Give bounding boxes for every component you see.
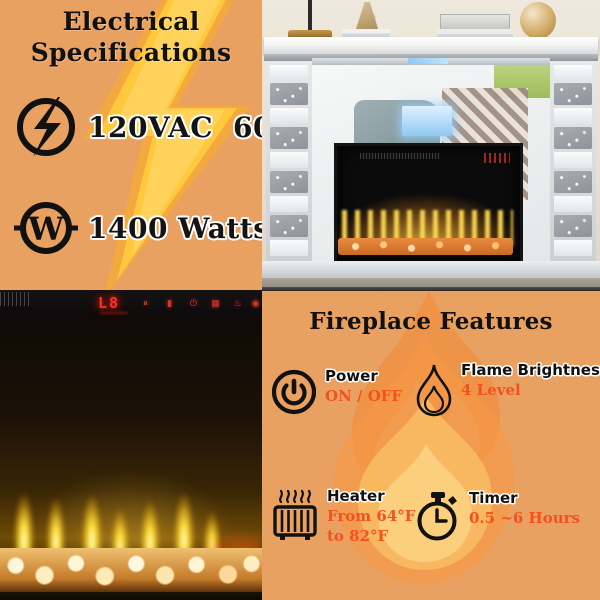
feature-power-label: Power [325,368,402,385]
watt-symbol-icon: W [14,196,78,260]
features-heading: Fireplace Features [262,308,600,335]
crystal-ember-bed [0,548,262,592]
voltage-value: 120VAC [88,111,213,144]
gold-orb-decor [520,2,556,39]
panel-seam [262,287,600,291]
feature-heater-value: From 64°F [327,507,415,525]
flame-closeup-panel: L8 ⏸ ▮ ⏻ ▦ ♨ ◉ [0,290,262,600]
product-photo-panel [262,0,600,290]
electrical-heading-line2: Specifications [0,37,262,68]
fireplace-features-panel: Fireplace Features Power ON / OFF [262,290,600,600]
power-icon [270,368,318,421]
mantel-shelf [264,37,598,54]
screen-reflection [402,106,452,136]
frequency-value: 60Hz [233,111,262,144]
lightning-bolt-icon [14,95,78,159]
electrical-heading: Electrical Specifications [0,6,262,68]
voltage-text: 120VAC60Hz [88,111,262,144]
left-mirror-pillar [266,61,312,261]
large-flame-background [304,290,554,600]
led-display: L8 [98,294,120,312]
minus-icon[interactable]: ▮ [164,298,175,309]
feature-timer: Timer 0.5 ~6 Hours [414,490,580,547]
svg-text:W: W [27,210,65,248]
electrical-heading-line1: Electrical [0,6,262,37]
heater-icon [270,488,320,551]
top-led-reflection [408,58,448,64]
timer-icon [414,490,462,547]
control-panel-grille [0,292,30,306]
feature-flame-brightness-label: Flame Brightness [461,362,600,379]
firebox-control-panel [484,153,510,163]
feature-power-value: ON / OFF [325,387,402,405]
feature-flame-brightness-value: 4 Level [461,381,600,399]
infographic-page: Electrical Specifications 120VAC60Hz W 1… [0,0,600,600]
led-underline [100,312,128,314]
spec-row-wattage: W 1400 Watts [14,196,262,260]
feature-heater: Heater From 64°F to 82°F [270,488,415,551]
flame-icon [414,362,454,423]
feature-heater-label: Heater [327,488,415,505]
wattage-text: 1400 Watts [88,212,262,245]
electrical-specs-panel: Electrical Specifications 120VAC60Hz W 1… [0,0,262,290]
firebox-ember-bed [338,238,513,255]
feature-power: Power ON / OFF [270,368,402,421]
spec-row-voltage: 120VAC60Hz [14,95,262,159]
hearth-base [262,261,600,278]
heater-icon[interactable]: ▦ [210,298,221,309]
feature-flame-brightness: Flame Brightness 4 Level [414,362,600,423]
firebox-vent [360,153,440,159]
pause-icon[interactable]: ⏸ [140,298,151,309]
feature-timer-value: 0.5 ~6 Hours [469,509,580,527]
flame-icon[interactable]: ♨ [232,298,243,309]
feature-timer-label: Timer [469,490,580,507]
control-panel-strip: L8 ⏸ ▮ ⏻ ▦ ♨ ◉ [0,290,262,316]
power-icon[interactable]: ⏻ [188,298,199,309]
feature-heater-value2: to 82°F [327,527,415,545]
right-mirror-pillar [550,61,596,261]
timer-icon[interactable]: ◉ [250,298,261,309]
